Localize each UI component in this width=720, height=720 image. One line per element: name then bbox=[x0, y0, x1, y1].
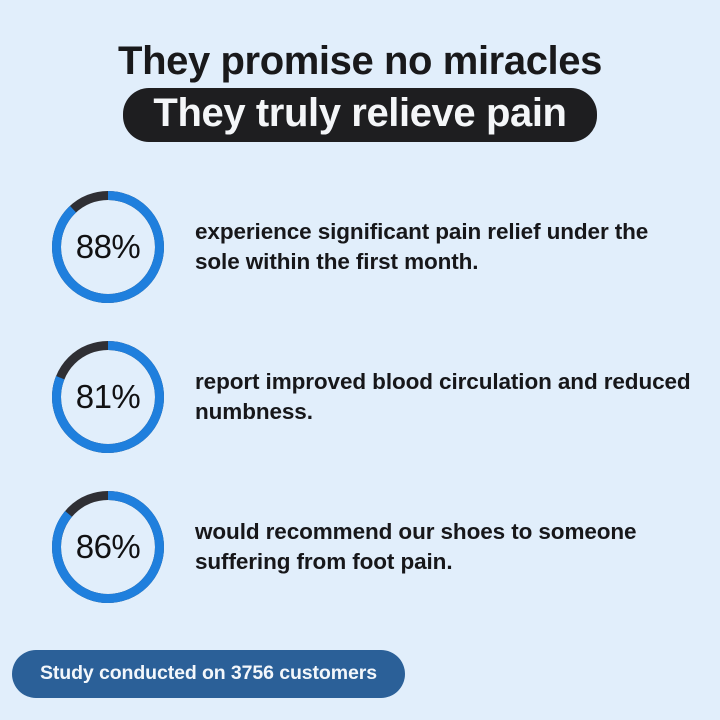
headline-pill-wrapper: They truly relieve pain bbox=[0, 88, 720, 142]
infographic-page: They promise no miracles They truly reli… bbox=[0, 0, 720, 720]
progress-ring-3: 86% bbox=[52, 491, 164, 603]
progress-ring-2: 81% bbox=[52, 341, 164, 453]
stats-list: 88% experience significant pain relief u… bbox=[0, 172, 720, 622]
progress-ring-1: 88% bbox=[52, 191, 164, 303]
headline-block: They promise no miracles They truly reli… bbox=[0, 0, 720, 142]
progress-ring-2-percent: 81% bbox=[52, 341, 164, 453]
stat-row: 86% would recommend our shoes to someone… bbox=[52, 472, 698, 622]
study-banner: Study conducted on 3756 customers bbox=[12, 650, 405, 698]
progress-ring-3-percent: 86% bbox=[52, 491, 164, 603]
stat-row: 81% report improved blood circulation an… bbox=[52, 322, 698, 472]
progress-ring-1-percent: 88% bbox=[52, 191, 164, 303]
stat-row: 88% experience significant pain relief u… bbox=[52, 172, 698, 322]
headline-line-1: They promise no miracles bbox=[0, 38, 720, 84]
footer-block: Study conducted on 3756 customers bbox=[12, 650, 405, 698]
stat-description-3: would recommend our shoes to someone suf… bbox=[195, 517, 698, 577]
stat-description-2: report improved blood circulation and re… bbox=[195, 367, 698, 427]
headline-line-2-pill: They truly relieve pain bbox=[123, 88, 596, 142]
stat-description-1: experience significant pain relief under… bbox=[195, 217, 698, 277]
